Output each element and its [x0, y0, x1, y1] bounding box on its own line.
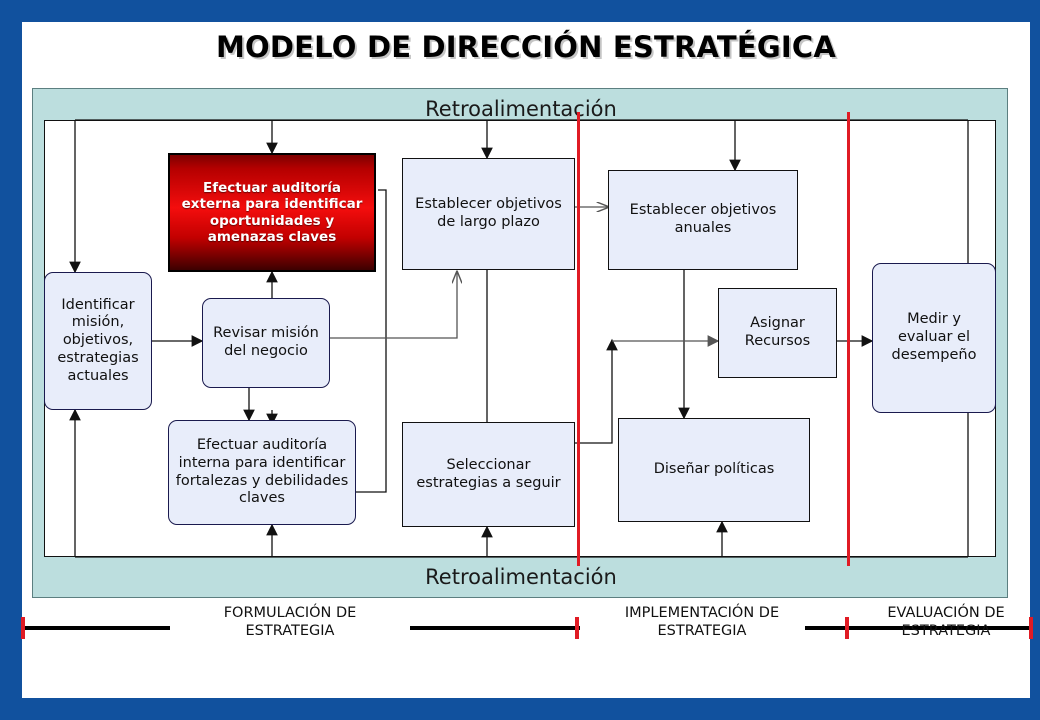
phase-label-evaluacion: EVALUACIÓN DE ESTRATEGIA	[858, 604, 1034, 640]
feedback-label-top: Retroalimentación	[33, 97, 1009, 121]
feedback-label-bottom: Retroalimentación	[33, 565, 1009, 589]
axis-tick-formulacion-end	[575, 617, 579, 639]
node-medir-evaluar[interactable]: Medir y evaluar el desempeño	[872, 263, 996, 413]
node-objetivos-largo-plazo[interactable]: Establecer objetivos de largo plazo	[402, 158, 575, 270]
node-revisar-mision[interactable]: Revisar misión del negocio	[202, 298, 330, 388]
phase-divider-formulacion-implementacion	[577, 112, 580, 566]
node-objetivos-anuales[interactable]: Establecer objetivos anuales	[608, 170, 798, 270]
axis-segment-2	[410, 626, 580, 630]
node-auditoria-externa[interactable]: Efectuar auditoría externa para identifi…	[168, 153, 376, 272]
phase-label-formulacion: FORMULACIÓN DE ESTRATEGIA	[178, 604, 402, 640]
axis-tick-start	[21, 617, 25, 639]
phase-divider-implementacion-evaluacion	[847, 112, 850, 566]
node-disenar-politicas[interactable]: Diseñar políticas	[618, 418, 810, 522]
node-identificar-mision[interactable]: Identificar misión, objetivos, estrategi…	[44, 272, 152, 410]
node-asignar-recursos[interactable]: Asignar Recursos	[718, 288, 837, 378]
node-seleccionar-estrategias[interactable]: Seleccionar estrategias a seguir	[402, 422, 575, 527]
axis-tick-implementacion-end	[845, 617, 849, 639]
page-title: MODELO DE DIRECCIÓN ESTRATÉGICA	[22, 30, 1030, 64]
diagram-root: MODELO DE DIRECCIÓN ESTRATÉGICA Retroali…	[0, 0, 1040, 720]
axis-segment-1	[22, 626, 170, 630]
node-auditoria-interna[interactable]: Efectuar auditoría interna para identifi…	[168, 420, 356, 525]
phase-label-implementacion: IMPLEMENTACIÓN DE ESTRATEGIA	[590, 604, 814, 640]
